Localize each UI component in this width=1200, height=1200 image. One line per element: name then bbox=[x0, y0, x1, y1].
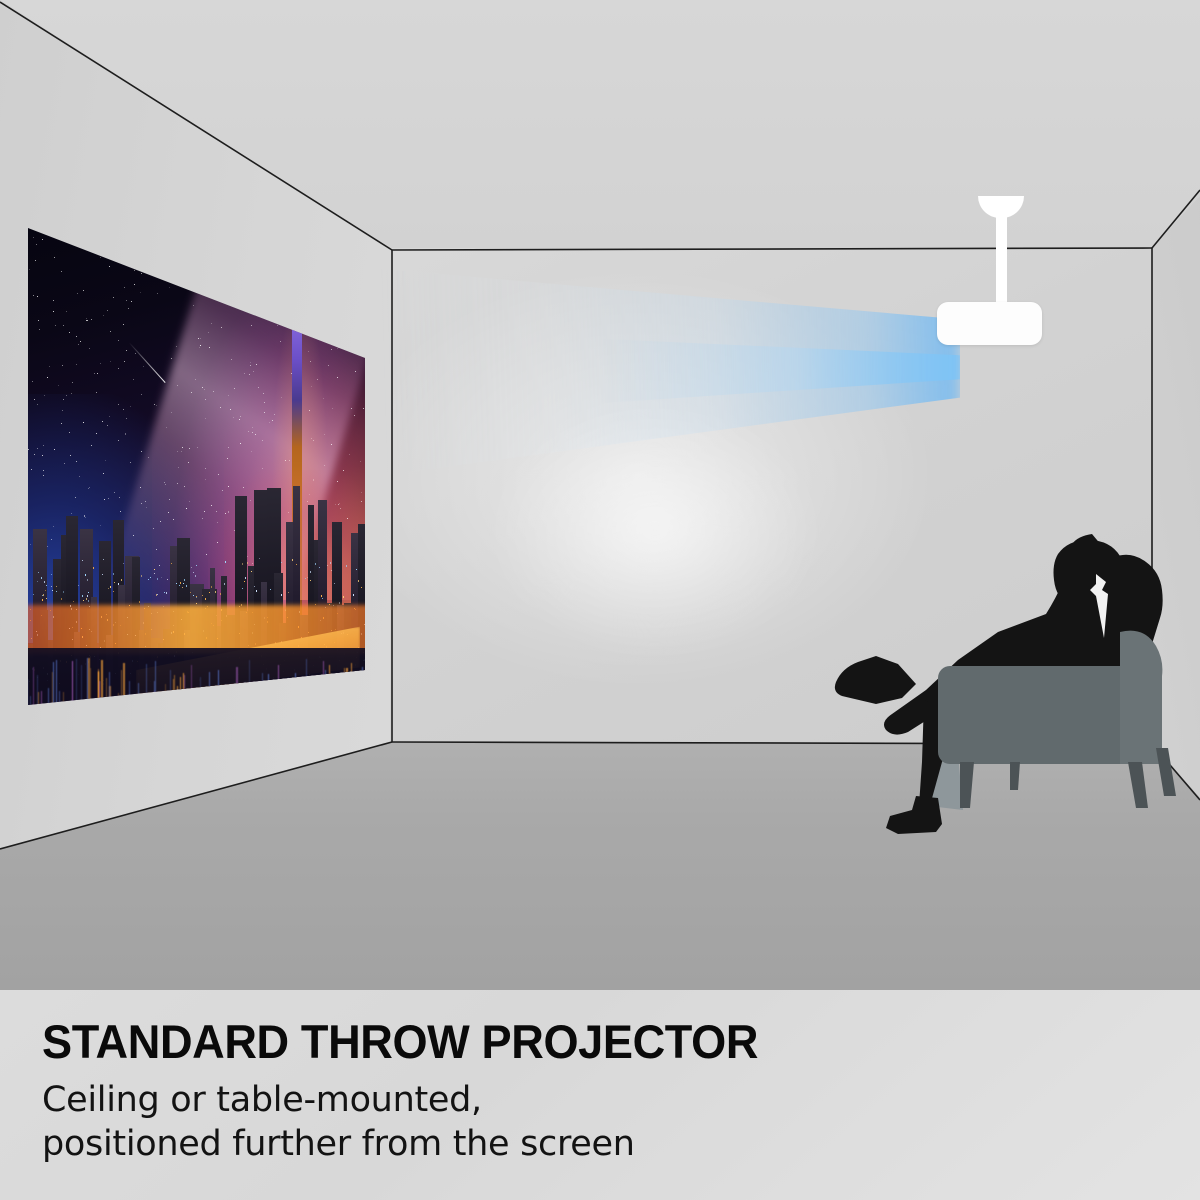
caption-title: STANDARD THROW PROJECTOR bbox=[42, 1018, 1154, 1066]
armchair-leg-mid bbox=[1010, 762, 1020, 790]
man-upper-shoe bbox=[835, 656, 916, 704]
room-scene bbox=[0, 0, 1200, 990]
armchair-leg-front-left bbox=[960, 762, 974, 808]
mount-pole bbox=[996, 216, 1007, 308]
man-and-armchair-silhouette bbox=[820, 540, 1200, 860]
armchair-leg-front-right bbox=[1128, 762, 1148, 808]
poster-root: STANDARD THROW PROJECTOR Ceiling or tabl… bbox=[0, 0, 1200, 1200]
caption-subtitle: Ceiling or table-mounted, positioned fur… bbox=[42, 1078, 1200, 1166]
caption-subtitle-line-1: Ceiling or table-mounted, bbox=[42, 1078, 1200, 1122]
man-lower-shoe bbox=[886, 796, 942, 834]
ceiling-projector[interactable] bbox=[930, 196, 1050, 346]
caption-band: STANDARD THROW PROJECTOR Ceiling or tabl… bbox=[0, 990, 1200, 1200]
projector-body[interactable] bbox=[937, 302, 1042, 345]
caption-subtitle-line-2: positioned further from the screen bbox=[42, 1122, 1200, 1166]
ceiling-mount-plate bbox=[978, 196, 1024, 218]
armchair-backrest bbox=[1120, 631, 1162, 764]
armchair-leg-back-right bbox=[1156, 748, 1176, 796]
viewer-group bbox=[820, 540, 1200, 860]
